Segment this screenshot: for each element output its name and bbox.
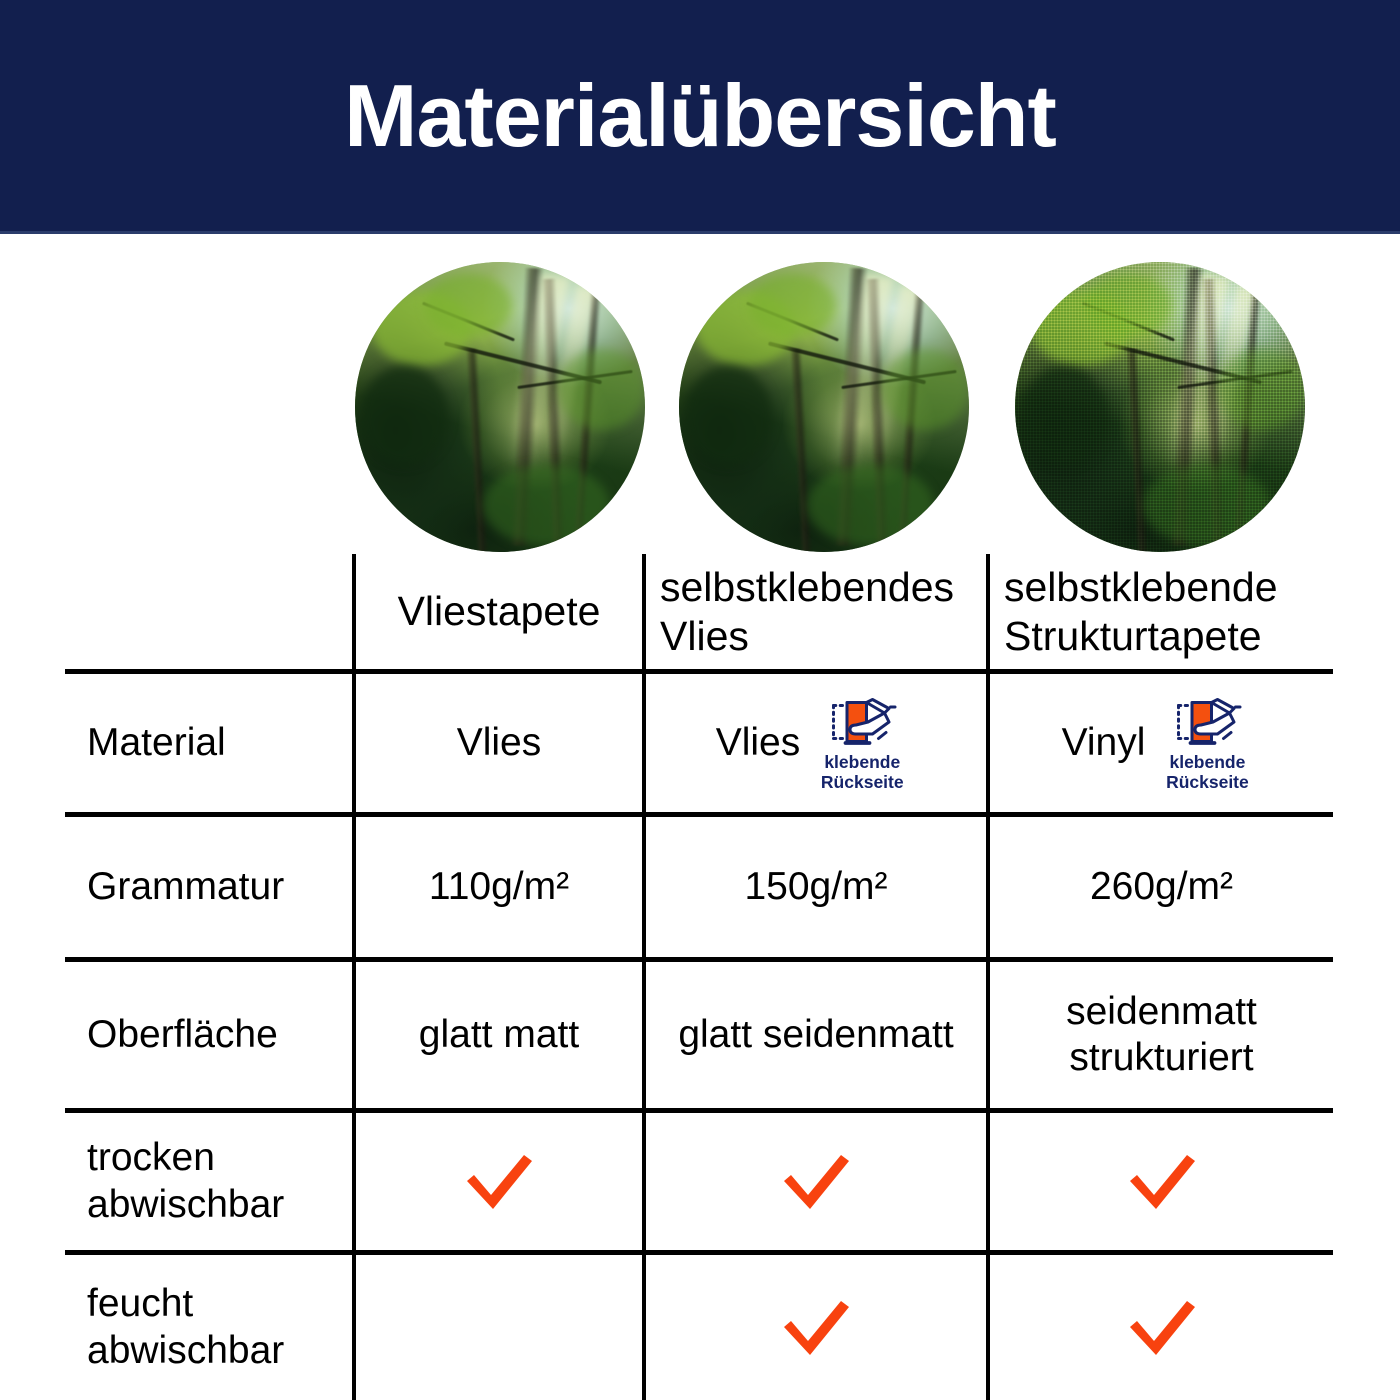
thumbnail-row [352,262,1333,554]
column-header-selbstklebendes-vlies: selbstklebendes Vlies [642,554,986,669]
structure-texture-overlay [1015,262,1305,552]
cell-trocken-vliestapete [352,1113,642,1250]
cell-feucht-vliestapete [352,1255,642,1400]
cell-grammatur-vliestapete: 110g/m² [352,817,642,957]
cell-oberflaeche-selbstklebendes-vlies: glatt seidenmatt [642,962,986,1108]
adhesive-backing-badge: klebendeRückseite [1153,694,1261,792]
check-icon [1125,1297,1199,1359]
table-header-row: Vliestapete selbstklebendes Vlies selbst… [65,554,1333,669]
badge-text: klebendeRückseite [1166,753,1249,792]
check-icon [462,1151,536,1213]
forest-image [679,262,969,552]
table-row-trocken-abwischbar: trocken abwischbar [65,1113,1333,1250]
row-label-material: Material [65,674,352,812]
cell-material-selbstklebendes-vlies: Vlies [642,674,986,812]
cell-trocken-strukturtapete [986,1113,1333,1250]
cell-value: Vinyl [1062,720,1146,766]
row-label-oberflaeche: Oberfläche [65,962,352,1108]
table-row-oberflaeche: Oberfläche glatt matt glatt seidenmatt s… [65,962,1333,1108]
peel-adhesive-backing-icon [1171,694,1243,750]
peel-adhesive-backing-icon [826,694,898,750]
cell-material-vliestapete: Vlies [352,674,642,812]
cell-value: Vlies [457,720,542,766]
row-label-trocken-abwischbar: trocken abwischbar [65,1113,352,1250]
forest-thumbnail-selbstklebendes-vlies [679,262,969,552]
page-title: Materialübersicht [344,72,1056,160]
forest-thumbnail-vliestapete [355,262,645,552]
column-header-selbstklebende-strukturtapete: selbstklebende Strukturtapete [986,554,1333,669]
cell-oberflaeche-strukturtapete: seidenmatt strukturiert [986,962,1333,1108]
column-header-vliestapete: Vliestapete [352,554,642,669]
table-row-material: Material Vlies Vlies [65,674,1333,812]
forest-thumbnail-strukturtapete [1015,262,1305,552]
cell-feucht-selbstklebendes-vlies [642,1255,986,1400]
table-row-grammatur: Grammatur 110g/m² 150g/m² 260g/m² [65,817,1333,957]
check-icon [779,1297,853,1359]
material-overview-page: Materialübersicht [0,0,1400,1400]
cell-trocken-selbstklebendes-vlies [642,1113,986,1250]
cell-feucht-strukturtapete [986,1255,1333,1400]
forest-image [355,262,645,552]
cell-grammatur-strukturtapete: 260g/m² [986,817,1333,957]
cell-material-strukturtapete: Vinyl [986,674,1333,812]
adhesive-backing-badge: klebendeRückseite [808,694,916,792]
material-comparison-table: Vliestapete selbstklebendes Vlies selbst… [65,554,1333,1400]
row-label-feucht-abwischbar: feucht abwischbar [65,1255,352,1400]
header-underline [0,231,1400,234]
check-icon [1125,1151,1199,1213]
cell-grammatur-selbstklebendes-vlies: 150g/m² [642,817,986,957]
table-header-corner [65,554,352,669]
badge-text: klebendeRückseite [821,753,904,792]
table-row-feucht-abwischbar: feucht abwischbar [65,1255,1333,1400]
cell-oberflaeche-vliestapete: glatt matt [352,962,642,1108]
check-icon [779,1151,853,1213]
page-header: Materialübersicht [0,0,1400,231]
row-label-grammatur: Grammatur [65,817,352,957]
cell-value: Vlies [716,720,801,766]
